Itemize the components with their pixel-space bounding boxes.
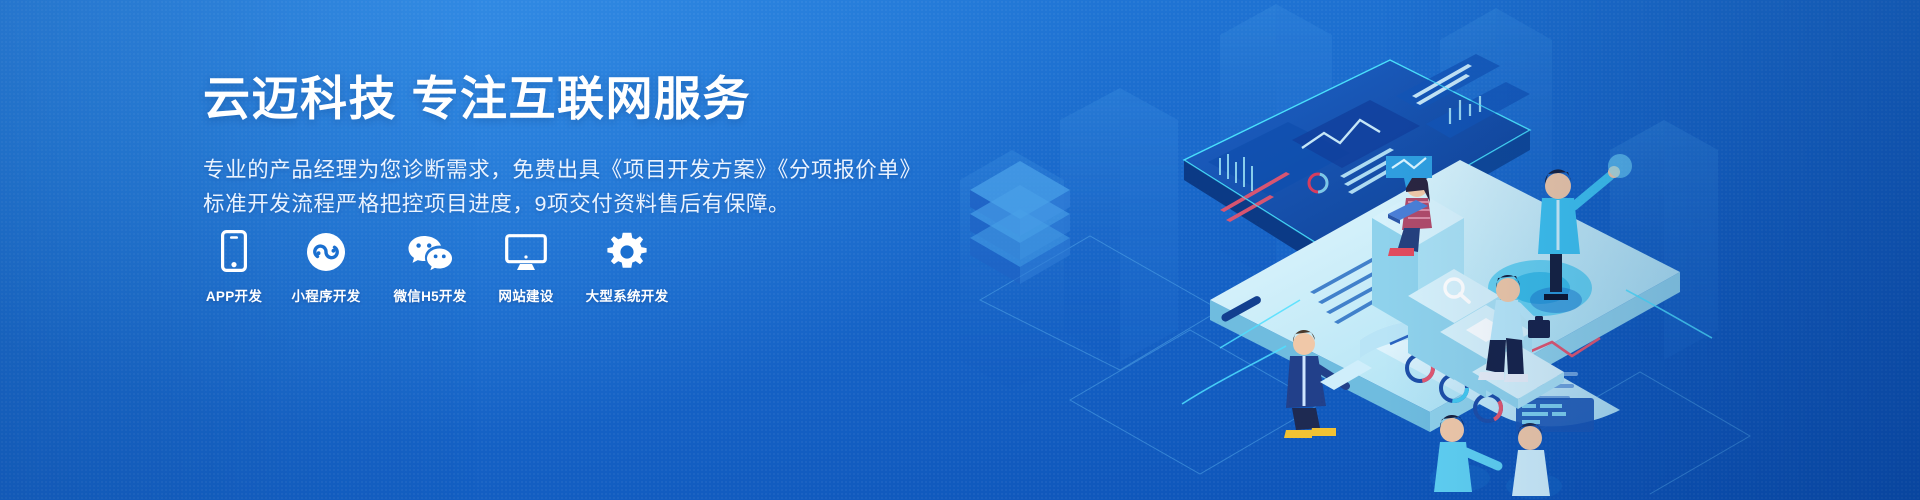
illustration-isometric-business-analytics <box>920 0 1920 500</box>
service-label: 小程序开发 <box>292 285 361 305</box>
page-title: 云迈科技 专注互联网服务 <box>203 72 903 127</box>
service-item-wechat-h5[interactable]: 微信H5开发 <box>387 228 473 305</box>
service-label: 网站建设 <box>498 285 553 305</box>
service-item-mini-program[interactable]: 小程序开发 <box>285 228 367 305</box>
service-label: 微信H5开发 <box>393 285 466 305</box>
subtitle-line-2: 标准开发流程严格把控项目进度，9项交付资料售后有保障。 <box>203 187 903 222</box>
monitor-icon <box>505 228 547 272</box>
subtitle-line-1: 专业的产品经理为您诊断需求，免费出具《项目开发方案》《分项报价单》 <box>203 153 903 188</box>
service-label: APP开发 <box>206 285 262 305</box>
service-item-large-system[interactable]: 大型系统开发 <box>579 228 675 305</box>
service-list: APP开发 小程序开发 <box>203 228 675 305</box>
service-item-app[interactable]: APP开发 <box>203 228 265 305</box>
mobile-phone-icon <box>221 228 247 272</box>
mini-program-icon <box>306 228 346 272</box>
hero-banner: 云迈科技 专注互联网服务 专业的产品经理为您诊断需求，免费出具《项目开发方案》《… <box>0 0 1920 500</box>
gear-icon <box>607 228 647 272</box>
hero-copy: 云迈科技 专注互联网服务 专业的产品经理为您诊断需求，免费出具《项目开发方案》《… <box>203 72 903 222</box>
service-label: 大型系统开发 <box>586 285 669 305</box>
wechat-icon <box>407 228 453 272</box>
service-item-website[interactable]: 网站建设 <box>493 228 559 305</box>
